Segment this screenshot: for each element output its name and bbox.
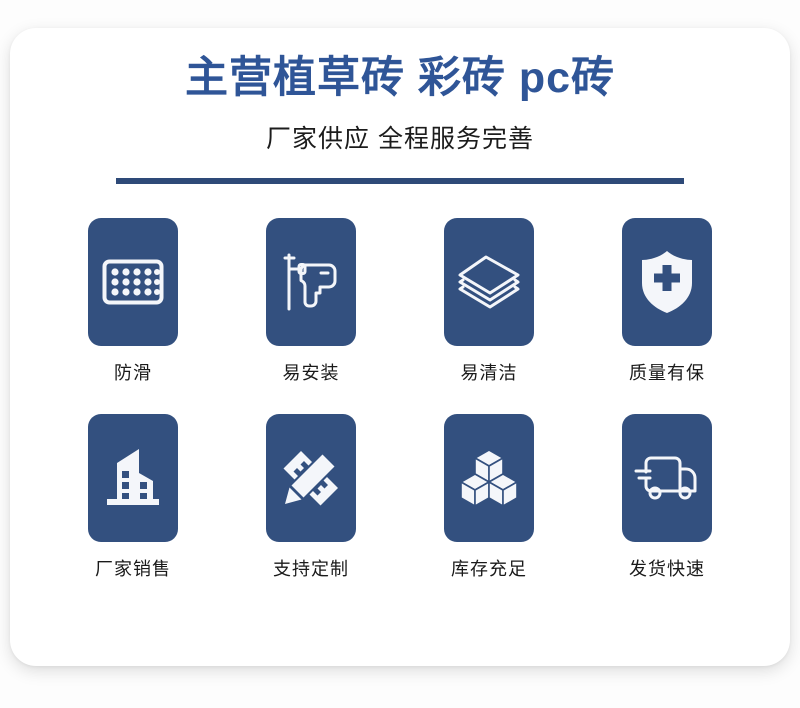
feature-item[interactable]: 库存充足 [400,414,578,578]
power-drill-icon [281,251,341,313]
stacked-tiles-icon [456,253,522,311]
pencil-ruler-icon [279,446,343,510]
feature-tile[interactable] [266,218,356,346]
feature-label: 易清洁 [461,364,518,382]
feature-tile[interactable] [444,414,534,542]
feature-label: 库存充足 [451,560,527,578]
factory-building-icon [101,447,165,509]
feature-label: 发货快速 [629,560,705,578]
header: 主营植草砖 彩砖 pc砖 厂家供应 全程服务完善 [10,28,790,184]
feature-item[interactable]: 厂家销售 [44,414,222,578]
shield-cross-icon [638,249,696,315]
stacked-cubes-icon [457,446,521,510]
feature-label: 易安装 [283,364,340,382]
feature-grid: 防滑 [44,218,756,578]
feature-label: 厂家销售 [95,560,171,578]
feature-item[interactable]: 支持定制 [222,414,400,578]
feature-tile[interactable] [444,218,534,346]
feature-item[interactable]: 易安装 [222,218,400,382]
feature-tile[interactable] [88,414,178,542]
page-subtitle: 厂家供应 全程服务完善 [10,124,790,154]
feature-item[interactable]: 质量有保 [578,218,756,382]
page-root: 主营植草砖 彩砖 pc砖 厂家供应 全程服务完善 [0,0,800,708]
feature-label: 支持定制 [273,560,349,578]
feature-tile[interactable] [622,414,712,542]
feature-tile[interactable] [266,414,356,542]
header-divider [116,178,684,184]
feature-card: 主营植草砖 彩砖 pc砖 厂家供应 全程服务完善 [10,28,790,666]
feature-item[interactable]: 发货快速 [578,414,756,578]
feature-tile[interactable] [622,218,712,346]
feature-tile[interactable] [88,218,178,346]
feature-label: 质量有保 [629,364,705,382]
feature-item[interactable]: 防滑 [44,218,222,382]
feature-item[interactable]: 易清洁 [400,218,578,382]
page-title: 主营植草砖 彩砖 pc砖 [10,54,790,102]
feature-label: 防滑 [114,364,152,382]
anti-slip-dotted-tile-icon [102,259,164,305]
delivery-truck-icon [633,452,701,504]
